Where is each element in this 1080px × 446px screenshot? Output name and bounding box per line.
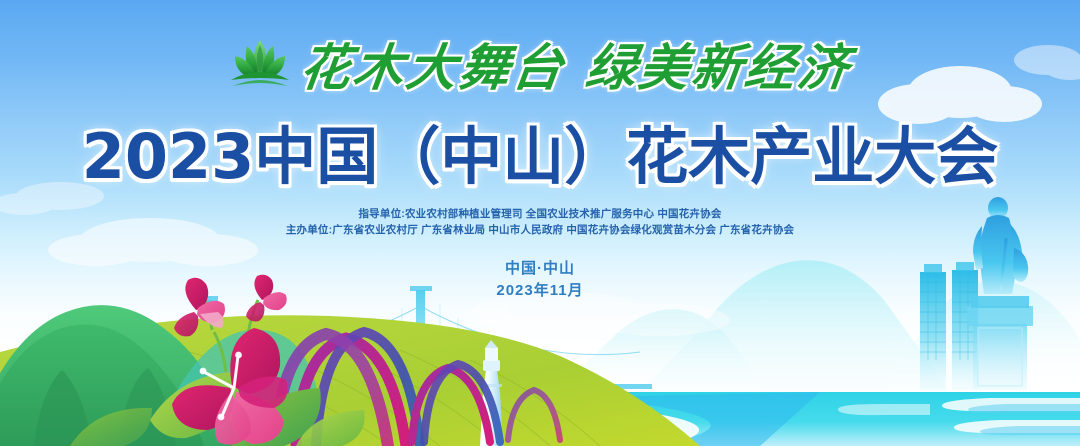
- guidance-units: 指导单位:农业农村部种植业管理司 全国农业技术推广服务中心 中国花卉协会: [0, 206, 1080, 222]
- host-units: 主办单位:广东省农业农村厅 广东省林业局 中山市人民政府 中国花卉协会绿化观赏苗…: [0, 222, 1080, 238]
- organizer-list: 指导单位:农业农村部种植业管理司 全国农业技术推广服务中心 中国花卉协会 主办单…: [0, 206, 1080, 238]
- place-date: 中国·中山 2023年11月: [0, 258, 1080, 302]
- lotus-icon: [229, 36, 291, 92]
- conference-poster: 花木大舞台 绿美新经济 2023中国（中山）花木产业大会 指导单位:农业农村部种…: [0, 0, 1080, 446]
- page-title: 2023中国（中山）花木产业大会: [0, 106, 1080, 196]
- date-text: 2023年11月: [0, 280, 1080, 302]
- slogan-text: 花木大舞台 绿美新经济: [296, 28, 855, 100]
- slogan-row: 花木大舞台 绿美新经济: [0, 28, 1080, 100]
- place-text: 中国·中山: [0, 258, 1080, 280]
